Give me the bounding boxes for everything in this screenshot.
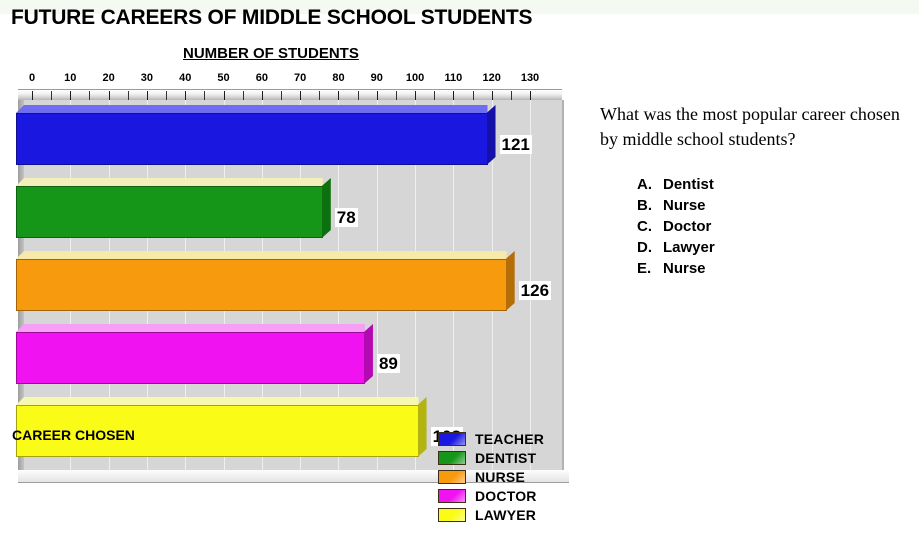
x-axis-title: NUMBER OF STUDENTS: [183, 45, 359, 62]
bar-top-face: [16, 251, 507, 259]
axis-tick: [128, 91, 129, 100]
answer-option-b[interactable]: B.Nurse: [637, 195, 715, 216]
axis-tick: [319, 91, 320, 100]
answer-text: Doctor: [663, 216, 711, 237]
answer-option-d[interactable]: D.Lawyer: [637, 237, 715, 258]
x-tick-label-30: 30: [141, 72, 153, 84]
legend-swatch-nurse: [438, 470, 466, 484]
chart-legend: TEACHERDENTISTNURSEDOCTORLAWYER: [438, 429, 544, 524]
answer-options-list: A.DentistB.NurseC.DoctorD.LawyerE.Nurse: [637, 174, 715, 279]
legend-item-dentist: DENTIST: [438, 448, 544, 467]
answer-letter: B.: [637, 195, 663, 216]
axis-tick: [358, 91, 359, 100]
bar-front-face: [16, 259, 507, 311]
legend-swatch-dentist: [438, 451, 466, 465]
x-tick-label-130: 130: [521, 72, 539, 84]
x-tick-label-50: 50: [217, 72, 229, 84]
answer-letter: C.: [637, 216, 663, 237]
x-tick-label-90: 90: [371, 72, 383, 84]
bar-side-face: [364, 324, 373, 384]
answer-text: Nurse: [663, 258, 706, 279]
answer-text: Dentist: [663, 174, 714, 195]
bar-nurse: [16, 251, 507, 311]
axis-tick: [511, 91, 512, 100]
bar-side-face: [322, 178, 331, 238]
axis-tick: [243, 91, 244, 100]
bar-side-face: [506, 251, 515, 311]
bar-value-label-nurse: 126: [519, 281, 551, 300]
x-tick-label-80: 80: [332, 72, 344, 84]
axis-tick: [473, 91, 474, 100]
legend-item-nurse: NURSE: [438, 467, 544, 486]
bar-top-face: [16, 105, 488, 113]
bar-value-label-teacher: 121: [500, 135, 532, 154]
x-tick-label-120: 120: [483, 72, 501, 84]
x-tick-label-0: 0: [29, 72, 35, 84]
bar-top-face: [16, 397, 419, 405]
x-tick-label-100: 100: [406, 72, 424, 84]
answer-option-a[interactable]: A.Dentist: [637, 174, 715, 195]
answer-letter: E.: [637, 258, 663, 279]
chart-plot-area: 0102030405060708090100110120130 12178126…: [10, 72, 570, 412]
legend-item-doctor: DOCTOR: [438, 486, 544, 505]
axis-tick: [204, 91, 205, 100]
axis-tick: [281, 91, 282, 100]
axis-tick: [396, 91, 397, 100]
bar-value-label-doctor: 89: [377, 354, 400, 373]
legend-swatch-doctor: [438, 489, 466, 503]
bar-teacher: [16, 105, 488, 165]
legend-item-lawyer: LAWYER: [438, 505, 544, 524]
x-tick-label-10: 10: [64, 72, 76, 84]
answer-letter: D.: [637, 237, 663, 258]
bar-top-face: [16, 178, 323, 186]
axis-tick: [166, 91, 167, 100]
legend-label: TEACHER: [475, 431, 544, 447]
answer-text: Lawyer: [663, 237, 715, 258]
legend-item-teacher: TEACHER: [438, 429, 544, 448]
x-tick-label-20: 20: [102, 72, 114, 84]
bar-dentist: [16, 178, 323, 238]
page-title: FUTURE CAREERS OF MIDDLE SCHOOL STUDENTS: [11, 6, 532, 30]
x-tick-label-110: 110: [445, 72, 463, 84]
legend-label: DOCTOR: [475, 488, 537, 504]
question-text: What was the most popular career chosen …: [600, 102, 915, 152]
legend-label: DENTIST: [475, 450, 536, 466]
bar-front-face: [16, 332, 365, 384]
axis-tick: [434, 91, 435, 100]
axis-tick: [89, 91, 90, 100]
answer-text: Nurse: [663, 195, 706, 216]
x-axis-tick-labels: 0102030405060708090100110120130: [10, 72, 570, 88]
bar-front-face: [16, 186, 323, 238]
bar-top-face: [16, 324, 365, 332]
answer-option-e[interactable]: E.Nurse: [637, 258, 715, 279]
y-axis-title: CAREER CHOSEN: [12, 427, 135, 443]
legend-label: NURSE: [475, 469, 525, 485]
legend-swatch-teacher: [438, 432, 466, 446]
bar-side-face: [418, 397, 427, 457]
legend-swatch-lawyer: [438, 508, 466, 522]
bar-doctor: [16, 324, 365, 384]
x-tick-label-70: 70: [294, 72, 306, 84]
answer-option-c[interactable]: C.Doctor: [637, 216, 715, 237]
x-tick-label-60: 60: [256, 72, 268, 84]
bar-side-face: [487, 105, 496, 165]
axis-tick: [51, 91, 52, 100]
answer-letter: A.: [637, 174, 663, 195]
bar-front-face: [16, 113, 488, 165]
bar-value-label-dentist: 78: [335, 208, 358, 227]
legend-label: LAWYER: [475, 507, 536, 523]
x-tick-label-40: 40: [179, 72, 191, 84]
